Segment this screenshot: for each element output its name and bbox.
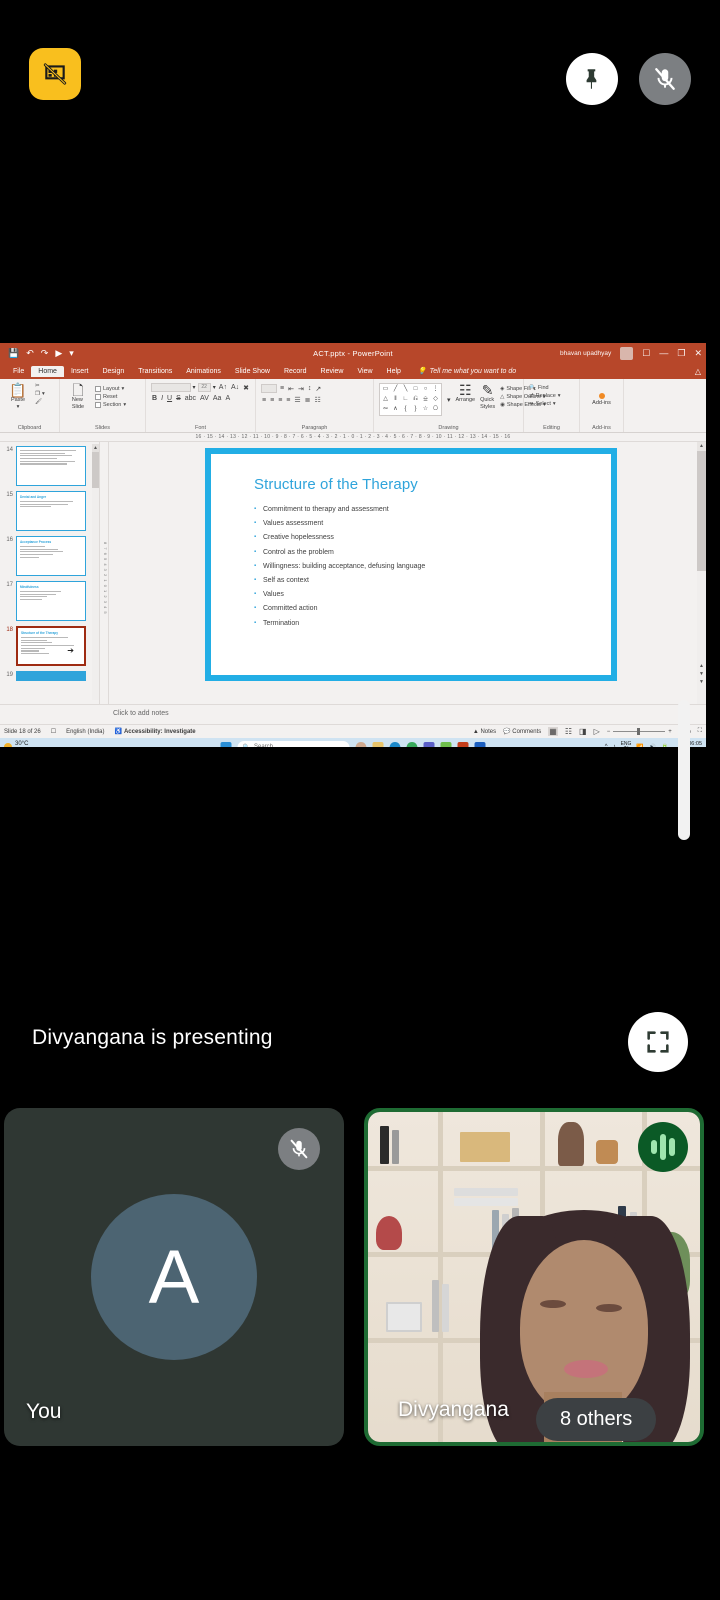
- participant-tile-speaker[interactable]: Divyangana: [364, 1108, 704, 1446]
- presenting-status: Divyangana is presenting: [32, 1026, 273, 1050]
- meeting-screen: 💾 ↶ ↷ ▶ ▾ ACT.pptx - PowerPoint bhavan u…: [0, 0, 720, 1600]
- thumbnail-item[interactable]: 16 Acceptance Process: [2, 536, 97, 576]
- language-label[interactable]: English (India): [66, 729, 104, 735]
- arrange-button[interactable]: ☷ Arrange: [456, 383, 476, 404]
- thumbnail-number: 15: [2, 491, 13, 498]
- thumbnail-title: Acceptance Process: [20, 540, 82, 544]
- search-placeholder: Search: [254, 744, 273, 747]
- slide-bullet[interactable]: Values assessment: [254, 520, 611, 527]
- thumbnail-preview[interactable]: Mindfulness: [16, 581, 86, 621]
- tab-file[interactable]: File: [6, 366, 31, 377]
- ribbon-group-drawing: ▭ ╱ ╲ □ ○ ⋮ △ ‖ ∟ ⎌ ⎒ ◇ ∾ ∧ {: [374, 379, 524, 432]
- word-icon[interactable]: [475, 742, 486, 748]
- speaking-indicator-icon: [638, 1122, 688, 1172]
- paste-dropdown-icon[interactable]: ▾: [17, 404, 20, 411]
- shape-triangle-icon[interactable]: △: [381, 395, 390, 404]
- layout-icon: [95, 386, 101, 392]
- thumbnail-title: Mindfulness: [20, 585, 82, 589]
- tab-home[interactable]: Home: [31, 366, 64, 377]
- bullets-button[interactable]: [261, 384, 277, 393]
- tab-insert[interactable]: Insert: [64, 366, 96, 377]
- thumbnail-item[interactable]: 15 Denial and Anger: [2, 491, 97, 531]
- tab-design[interactable]: Design: [95, 366, 131, 377]
- font-size-input[interactable]: 22: [198, 383, 211, 392]
- align-text-icon[interactable]: ≣: [304, 396, 312, 404]
- scroll-down-icon[interactable]: ▼: [697, 678, 706, 686]
- slide-bullet[interactable]: Committed action: [254, 605, 611, 612]
- brush-icon: 🖌: [35, 399, 42, 405]
- normal-view-icon[interactable]: ▦: [548, 727, 558, 736]
- ribbon-group-editing: 🔍Find ⇄Replace▾ ➔Select▾ Editing: [524, 379, 580, 432]
- scissors-icon: ✂: [35, 383, 40, 389]
- tell-me-label: Tell me what you want to do: [430, 368, 517, 375]
- slide-bullet[interactable]: Self as context: [254, 577, 611, 584]
- slide-bullet[interactable]: Willingness: building acceptance, defusi…: [254, 563, 611, 570]
- scroll-up-icon[interactable]: ▲: [92, 444, 99, 452]
- addins-button[interactable]: Add-ins: [585, 393, 618, 407]
- decrease-indent-icon[interactable]: ⇤: [287, 385, 295, 393]
- underline-button[interactable]: U: [166, 395, 173, 402]
- shape-star-icon[interactable]: ☆: [421, 405, 430, 414]
- slide-bullet[interactable]: Control as the problem: [254, 549, 611, 556]
- thumbnail-item[interactable]: 19: [2, 671, 97, 681]
- new-slide-label: NewSlide: [72, 397, 84, 411]
- notes-pane[interactable]: Click to add notes: [0, 704, 706, 724]
- slide-bullet[interactable]: Values: [254, 591, 611, 598]
- others-count-pill[interactable]: 8 others: [536, 1398, 656, 1441]
- outline-icon: △: [500, 394, 504, 400]
- pin-icon[interactable]: [566, 53, 618, 105]
- tell-me-search[interactable]: 💡 Tell me what you want to do: [418, 367, 516, 375]
- text-shadow-button[interactable]: abc: [184, 395, 197, 402]
- group-label-addins: Add-ins: [580, 425, 623, 431]
- slide-bullet[interactable]: Creative hopelessness: [254, 534, 611, 541]
- participant-tiles: A You: [0, 1108, 720, 1448]
- wave-bar: [651, 1140, 657, 1154]
- wifi-icon[interactable]: 📶: [636, 744, 643, 748]
- group-label-font: Font: [146, 425, 255, 431]
- ribbon-group-font: ▾ 22 ▾ A↑ A↓ ✖ B I U S abc AV Aa A: [146, 379, 256, 432]
- teams-icon[interactable]: [424, 742, 435, 748]
- thumbnail-number: 18: [2, 626, 13, 633]
- shapes-gallery[interactable]: ▭ ╱ ╲ □ ○ ⋮ △ ‖ ∟ ⎌ ⎒ ◇ ∾ ∧ {: [379, 383, 442, 416]
- avatar: A: [91, 1194, 257, 1360]
- justify-icon[interactable]: ≡: [285, 397, 291, 404]
- slide-thumbnail-panel[interactable]: 14 15 Denial and Anger 16: [0, 442, 100, 704]
- shape-freeform-icon[interactable]: ∧: [391, 405, 400, 414]
- tab-transitions[interactable]: Transitions: [131, 366, 179, 377]
- fullscreen-icon[interactable]: [628, 1012, 688, 1072]
- cut-button[interactable]: ✂: [35, 383, 45, 389]
- previous-slide-icon[interactable]: ▲: [697, 662, 706, 670]
- shape-brace-icon[interactable]: {: [401, 405, 410, 414]
- group-label-clipboard: Clipboard: [0, 425, 59, 431]
- mic-off-icon[interactable]: [639, 53, 691, 105]
- columns-icon[interactable]: ☰: [293, 396, 301, 404]
- find-label: Find: [538, 385, 549, 391]
- copilot-icon[interactable]: [356, 742, 367, 748]
- thumbnail-title: Denial and Anger: [20, 495, 82, 499]
- italic-button[interactable]: I: [160, 395, 164, 402]
- minimize-button[interactable]: —: [659, 348, 668, 358]
- slide-canvas[interactable]: Structure of the Therapy Commitment to t…: [109, 442, 706, 704]
- effects-icon: ◉: [500, 402, 505, 408]
- thumbnail-preview[interactable]: Acceptance Process: [16, 536, 86, 576]
- clear-formatting-icon[interactable]: ✖: [242, 384, 250, 392]
- slide-sorter-icon[interactable]: ☷: [565, 727, 572, 736]
- tab-animations[interactable]: Animations: [179, 366, 228, 377]
- shape-arrow-icon[interactable]: ╲: [401, 385, 410, 394]
- quick-styles-label: Quick Styles: [480, 397, 495, 411]
- thumbnail-scrollbar[interactable]: ▲: [92, 444, 99, 700]
- zoom-in-button[interactable]: +: [668, 729, 672, 735]
- thumbnail-preview[interactable]: [16, 671, 86, 681]
- tab-record[interactable]: Record: [277, 366, 314, 377]
- start-icon[interactable]: [221, 742, 232, 748]
- thumbnail-number: 16: [2, 536, 13, 543]
- tab-view[interactable]: View: [350, 366, 379, 377]
- align-center-icon[interactable]: ≡: [269, 397, 275, 404]
- quick-styles-icon: ✎: [482, 383, 494, 397]
- thumbnail-number: 17: [2, 581, 13, 588]
- zoom-out-button[interactable]: −: [607, 729, 611, 735]
- ribbon-group-addins: Add-ins Add-ins: [580, 379, 624, 432]
- slide-scrollbar[interactable]: ▲ ▲ ▼ ▼: [697, 442, 706, 704]
- close-button[interactable]: ✕: [694, 348, 702, 359]
- paste-icon: 📋: [9, 383, 26, 397]
- slide-bullet[interactable]: Termination: [254, 620, 611, 627]
- share-scrollbar[interactable]: [678, 700, 690, 840]
- thumbnail-number: 14: [2, 446, 13, 453]
- shape-curve-icon[interactable]: ∾: [381, 405, 390, 414]
- scroll-up-icon[interactable]: ▲: [697, 442, 706, 451]
- arrange-label: Arrange: [456, 397, 476, 404]
- copy-dropdown-icon[interactable]: ▾: [42, 391, 45, 397]
- font-name-input[interactable]: [151, 383, 191, 392]
- ribbon-group-paragraph: ≡ ⇤ ⇥ ↕ ↗ ≡ ≡ ≡ ≡ ☰ ≣ ☷ Paragraph: [256, 379, 374, 432]
- thumbnail-item-selected[interactable]: 18 Structure of the Therapy ➔: [2, 626, 97, 666]
- language-indicator[interactable]: ENGIN: [621, 742, 632, 747]
- shape-circle-icon[interactable]: ○: [421, 385, 430, 394]
- shape-brace2-icon[interactable]: }: [411, 405, 420, 414]
- collapse-ribbon-icon[interactable]: △: [695, 367, 701, 376]
- restore-button[interactable]: ❐: [677, 348, 685, 359]
- zoom-knob[interactable]: [637, 728, 640, 735]
- slide-bullet[interactable]: Commitment to therapy and assessment: [254, 506, 611, 513]
- fit-slide-icon[interactable]: ⛶: [698, 728, 702, 735]
- addins-label: Add-ins: [592, 400, 611, 407]
- shape-diamond-icon[interactable]: ◇: [431, 395, 440, 404]
- wave-bar: [669, 1138, 675, 1156]
- scrollbar-thumb[interactable]: [697, 451, 706, 571]
- fill-icon: ◈: [500, 386, 504, 392]
- zoom-slider[interactable]: − +: [607, 729, 672, 735]
- new-slide-button[interactable]: 🗋 NewSlide: [65, 383, 91, 411]
- participant-tile-you[interactable]: A You: [4, 1108, 344, 1446]
- character-spacing-button[interactable]: AV: [199, 395, 210, 402]
- layout-button[interactable]: Layout▾: [95, 386, 126, 392]
- slideshow-icon[interactable]: ▷: [594, 727, 600, 736]
- addins-icon: [599, 393, 605, 399]
- paste-button[interactable]: 📋 Paste ▾: [5, 383, 31, 411]
- presentation-off-icon[interactable]: [29, 48, 81, 100]
- sun-icon: [4, 743, 12, 747]
- group-label-slides: Slides: [60, 425, 145, 431]
- battery-icon[interactable]: 🔋: [661, 744, 668, 748]
- new-slide-icon: 🗋: [72, 383, 83, 397]
- current-slide[interactable]: Structure of the Therapy Commitment to t…: [205, 448, 617, 681]
- find-button[interactable]: 🔍Find: [529, 385, 574, 391]
- notes-button[interactable]: ▲ Notes: [473, 729, 496, 735]
- participant-name: You: [26, 1400, 61, 1424]
- replace-icon: ⇄: [529, 393, 534, 399]
- thumbnail-item[interactable]: 17 Mindfulness: [2, 581, 97, 621]
- editor-work-area: 14 15 Denial and Anger 16: [0, 442, 706, 704]
- font-name-dropdown-icon[interactable]: ▾: [193, 384, 196, 391]
- edge-icon[interactable]: [390, 742, 401, 748]
- ribbon-group-clipboard: 📋 Paste ▾ ✂ ❐▾ 🖌 Clipboard: [0, 379, 60, 432]
- scrollbar-thumb[interactable]: [92, 452, 99, 488]
- tab-help[interactable]: Help: [380, 366, 408, 377]
- weather-widget[interactable]: 30°C Haze: [4, 741, 28, 747]
- thumbnail-title: Structure of the Therapy: [21, 631, 81, 635]
- search-input[interactable]: 🔍 Search: [238, 741, 350, 748]
- shape-elbow-icon[interactable]: ∟: [401, 395, 410, 404]
- font-size-dropdown-icon[interactable]: ▾: [213, 384, 216, 391]
- group-label-editing: Editing: [524, 425, 579, 431]
- windows-taskbar[interactable]: 30°C Haze 🔍 Search ^: [0, 738, 706, 747]
- lightbulb-icon: 💡: [418, 367, 427, 375]
- accessibility-icon: ♿: [114, 728, 121, 735]
- meeting-top-bar: [0, 0, 720, 150]
- paste-label: Paste: [11, 397, 25, 404]
- search-icon: 🔍: [529, 385, 536, 391]
- line-spacing-icon[interactable]: ↕: [307, 385, 313, 392]
- increase-font-size-icon[interactable]: A↑: [218, 384, 228, 391]
- shape-more-icon[interactable]: ⋮: [431, 385, 440, 394]
- ribbon-display-icon[interactable]: ☐: [642, 348, 650, 359]
- align-left-icon[interactable]: ≡: [261, 397, 267, 404]
- copy-icon: ❐: [35, 391, 40, 397]
- quick-styles-button[interactable]: ✎ Quick Styles: [480, 383, 495, 411]
- numbering-icon[interactable]: ≡: [279, 385, 285, 392]
- wave-bar: [660, 1134, 666, 1160]
- accessibility-status[interactable]: Accessibility: Investigate: [124, 729, 196, 735]
- participant-name: Divyangana: [398, 1398, 509, 1422]
- shape-square-icon[interactable]: □: [411, 385, 420, 394]
- horizontal-ruler: 16 · 15 · 14 · 13 · 12 · 11 · 10 · 9 · 8…: [0, 433, 706, 442]
- shapes-dropdown-icon[interactable]: ▾: [447, 396, 451, 404]
- volume-icon[interactable]: 🔊: [649, 744, 656, 748]
- shape-rect-icon[interactable]: ▭: [381, 385, 390, 394]
- chrome-icon[interactable]: [407, 742, 418, 748]
- slide-counter: Slide 18 of 26: [4, 729, 41, 735]
- file-explorer-icon[interactable]: [373, 742, 384, 748]
- scroll-buttons[interactable]: ▲ ▼ ▼: [697, 662, 706, 686]
- align-right-icon[interactable]: ≡: [277, 397, 283, 404]
- shared-screen[interactable]: 💾 ↶ ↷ ▶ ▾ ACT.pptx - PowerPoint bhavan u…: [0, 343, 706, 747]
- ribbon-tabs[interactable]: File Home Insert Design Transitions Anim…: [0, 363, 706, 379]
- decrease-font-size-icon[interactable]: A↓: [230, 384, 240, 391]
- group-label-paragraph: Paragraph: [256, 425, 373, 431]
- thumbnail-preview[interactable]: Structure of the Therapy ➔: [16, 626, 86, 666]
- search-icon: 🔍: [243, 744, 250, 748]
- shape-line-icon[interactable]: ╱: [391, 385, 400, 394]
- account-name[interactable]: bhavan upadhyay: [560, 350, 611, 357]
- thumbnail-preview[interactable]: [16, 446, 86, 486]
- powerpoint-titlebar: 💾 ↶ ↷ ▶ ▾ ACT.pptx - PowerPoint bhavan u…: [0, 343, 706, 363]
- reset-label: Reset: [103, 394, 117, 400]
- shape-flow-icon[interactable]: ⎌: [411, 395, 420, 404]
- slide-title[interactable]: Structure of the Therapy: [254, 476, 611, 493]
- slide-bullet-list[interactable]: Commitment to therapy and assessment Val…: [254, 506, 611, 627]
- photos-icon[interactable]: [441, 742, 452, 748]
- tab-slide-show[interactable]: Slide Show: [228, 366, 277, 377]
- arrange-icon: ☷: [459, 383, 472, 397]
- shape-textbox-icon[interactable]: ‖: [391, 395, 400, 404]
- reset-icon: [95, 394, 101, 400]
- powerpoint-icon[interactable]: [458, 742, 469, 748]
- copy-button[interactable]: ❐▾: [35, 391, 45, 397]
- bold-button[interactable]: B: [151, 395, 158, 402]
- account-avatar[interactable]: [620, 347, 633, 360]
- next-slide-icon[interactable]: ▼: [697, 670, 706, 678]
- spelling-icon[interactable]: ☐: [51, 728, 56, 735]
- comments-button[interactable]: 💬 Comments: [503, 728, 541, 735]
- thumbnail-preview[interactable]: Denial and Anger: [16, 491, 86, 531]
- cursor-icon: ➔: [529, 401, 534, 407]
- vertical-ruler: 8 7 6 5 4 3 2 1 0 1 2 3 4 5: [100, 442, 109, 704]
- change-case-button[interactable]: Aa: [212, 395, 223, 402]
- thumbnail-item[interactable]: 14: [2, 446, 97, 486]
- thumbnail-number: 19: [2, 671, 13, 678]
- section-icon: [95, 402, 101, 408]
- section-button[interactable]: Section▾: [95, 402, 126, 408]
- replace-label: Replace: [536, 393, 556, 399]
- font-color-button[interactable]: A: [224, 395, 231, 402]
- replace-button[interactable]: ⇄Replace▾: [529, 393, 574, 399]
- ribbon-group-slides: 🗋 NewSlide Layout▾ Reset Section▾ Slides: [60, 379, 146, 432]
- group-label-drawing: Drawing: [374, 425, 523, 431]
- powerpoint-status-bar: Slide 18 of 26 ☐ English (India) ♿ Acces…: [0, 724, 706, 738]
- format-painter-button[interactable]: 🖌: [35, 399, 45, 405]
- strikethrough-button[interactable]: S: [175, 395, 182, 402]
- select-button[interactable]: ➔Select▾: [529, 401, 574, 407]
- section-label: Section: [103, 402, 121, 408]
- music-icon[interactable]: ♪: [613, 744, 616, 747]
- tab-review[interactable]: Review: [314, 366, 351, 377]
- ribbon-body[interactable]: 📋 Paste ▾ ✂ ❐▾ 🖌 Clipboard 🗋: [0, 379, 706, 433]
- shape-banner-icon[interactable]: ⎒: [421, 395, 430, 404]
- reset-button[interactable]: Reset: [95, 394, 126, 400]
- select-label: Select: [536, 401, 551, 407]
- clock-time: 06:05: [688, 741, 702, 747]
- layout-label: Layout: [103, 386, 120, 392]
- reading-view-icon[interactable]: ◨: [579, 727, 587, 736]
- mic-off-icon: [278, 1128, 320, 1170]
- shape-scroll-icon[interactable]: ⎔: [431, 405, 440, 414]
- increase-indent-icon[interactable]: ⇥: [297, 385, 305, 393]
- convert-smartart-icon[interactable]: ☷: [314, 396, 322, 404]
- mouse-cursor-icon: ➔: [67, 646, 74, 655]
- text-direction-icon[interactable]: ↗: [314, 385, 322, 393]
- show-hidden-icons[interactable]: ^: [605, 744, 608, 747]
